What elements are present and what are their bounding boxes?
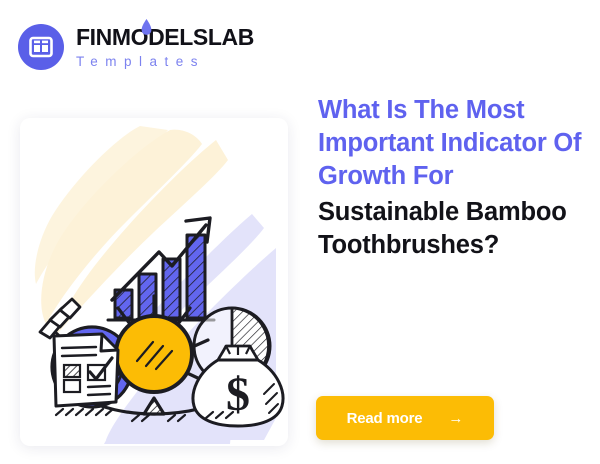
location-drop-icon (141, 19, 152, 39)
wordmark-text: FINMODELSLAB (76, 26, 254, 49)
text-block: What Is The Most Important Indicator Of … (318, 94, 582, 261)
brand-logo[interactable]: FINMODELSLAB Templates (18, 24, 254, 70)
brand-wordmark-group: FINMODELSLAB Templates (76, 26, 254, 69)
promo-banner: FINMODELSLAB Templates (0, 0, 600, 464)
read-more-button[interactable]: Read more → (316, 396, 494, 440)
grid-table-icon (18, 24, 64, 70)
tagline-text: Templates (76, 55, 254, 69)
svg-text:$: $ (226, 368, 250, 421)
arrow-right-icon: → (448, 411, 463, 426)
page-subtitle: Sustainable Bamboo Toothbrushes? (318, 196, 582, 262)
gold-coin-icon (116, 316, 192, 392)
business-growth-illustration: $ (20, 118, 288, 446)
document-checklist-icon (54, 334, 118, 406)
illustration-card: $ (20, 118, 288, 446)
page-title: What Is The Most Important Indicator Of … (318, 94, 582, 193)
read-more-label: Read more (347, 410, 423, 427)
